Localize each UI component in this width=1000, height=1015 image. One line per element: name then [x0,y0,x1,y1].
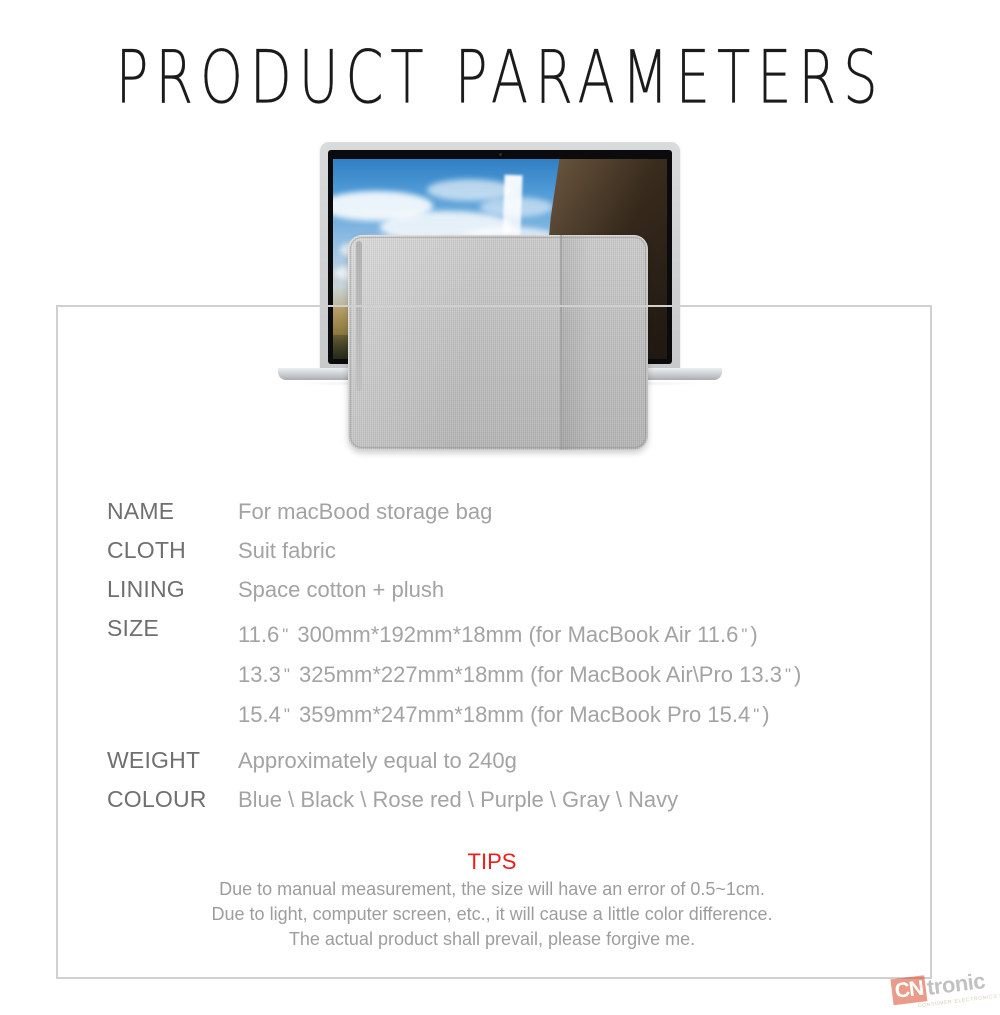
specification-table: NAME For macBood storage bag CLOTH Suit … [107,498,937,825]
spec-value: Space cotton + plush [238,576,444,603]
webcam-dot [499,153,502,156]
size-note-close: ) [750,622,757,647]
tips-heading: TIPS [56,848,928,875]
tips-line: Due to light, computer screen, etc., it … [56,902,928,927]
size-dimensions: 359mm*247mm*18mm [299,702,524,727]
spec-row-name: NAME For macBood storage bag [107,498,937,525]
tips-line: Due to manual measurement, the size will… [56,877,928,902]
inch-mark: " [281,705,293,724]
size-inch: 11.6 [238,622,279,647]
spec-value: Approximately equal to 240g [238,747,517,774]
spec-row-lining: LINING Space cotton + plush [107,576,937,603]
spec-label: WEIGHT [107,747,238,774]
spec-label: NAME [107,498,238,525]
spec-row-cloth: CLOTH Suit fabric [107,537,937,564]
size-note: (for MacBook Pro 15.4 [530,702,750,727]
inch-mark: " [738,625,750,644]
watermark-subtitle: CONSUMER ELECTRONICS RETAILER [918,992,1000,1010]
spec-row-size: SIZE 11.6" 300mm*192mm*18mm (for MacBook… [107,615,937,735]
size-note: (for MacBook Air 11.6 [528,622,738,647]
size-note-close: ) [794,662,801,687]
size-line: 15.4" 359mm*247mm*18mm (for MacBook Pro … [238,695,801,735]
size-inch: 13.3 [238,662,281,687]
size-note: (for MacBook Air\Pro 13.3 [530,662,782,687]
size-list: 11.6" 300mm*192mm*18mm (for MacBook Air … [238,615,801,735]
size-line: 13.3" 325mm*227mm*18mm (for MacBook Air\… [238,655,801,695]
size-dimensions: 300mm*192mm*18mm [297,622,522,647]
spec-value: Suit fabric [238,537,336,564]
tips-line: The actual product shall prevail, please… [56,927,928,952]
spec-label: CLOTH [107,537,238,564]
inch-mark: " [782,665,794,684]
inch-mark: " [279,625,291,644]
inch-mark: " [750,705,762,724]
size-dimensions: 325mm*227mm*18mm [299,662,524,687]
size-inch: 15.4 [238,702,281,727]
spec-value: For macBood storage bag [238,498,492,525]
watermark-name: tronic [926,970,986,999]
spec-value: Blue \ Black \ Rose red \ Purple \ Gray … [238,786,678,813]
inch-mark: " [281,665,293,684]
tips-section: TIPS Due to manual measurement, the size… [56,848,928,952]
spec-label: LINING [107,576,238,603]
product-parameters-page: PRODUCT PARAMETERS [0,0,1000,1015]
size-line: 11.6" 300mm*192mm*18mm (for MacBook Air … [238,615,801,655]
spec-label: SIZE [107,615,238,642]
page-title: PRODUCT PARAMETERS [20,36,980,120]
spec-label: COLOUR [107,786,238,813]
watermark-badge: CN [890,975,927,1005]
spec-row-weight: WEIGHT Approximately equal to 240g [107,747,937,774]
spec-row-colour: COLOUR Blue \ Black \ Rose red \ Purple … [107,786,937,813]
size-note-close: ) [762,702,769,727]
